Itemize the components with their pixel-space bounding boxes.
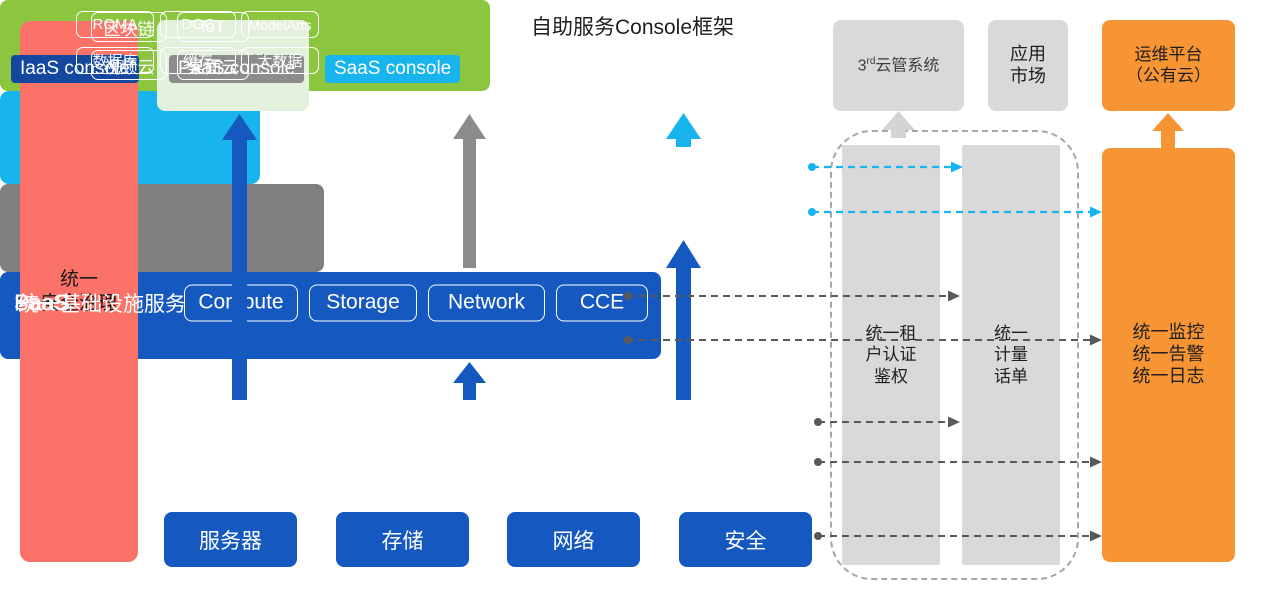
unified-metering-billing-column[interactable]: 统一 计量 话单: [962, 145, 1060, 565]
unified-tenant-authentication-column[interactable]: 统一租 户认证 鉴权: [842, 145, 940, 565]
paas-chip-roma[interactable]: ROMA: [76, 11, 154, 38]
arrow-paas-to-paas-console: [453, 114, 486, 268]
infra-chip-compute[interactable]: Compute: [184, 284, 298, 321]
arrow-into-ops-platform: [1152, 113, 1184, 148]
arrow-infra-to-paas: [453, 362, 486, 400]
paas-chip-dgc[interactable]: DGC: [160, 11, 236, 38]
infra-chip-cce[interactable]: CCE: [556, 284, 648, 321]
infra-chip-storage[interactable]: Storage: [309, 284, 417, 321]
arrow-infra-to-saas: [666, 240, 701, 400]
resource-tile-network[interactable]: 网络: [507, 512, 640, 567]
paas-chip-database[interactable]: 数据库: [76, 47, 154, 74]
application-marketplace-box[interactable]: 应用 市场: [988, 20, 1068, 111]
resource-tile-server[interactable]: 服务器: [164, 512, 297, 567]
paas-chip-modelarts[interactable]: ModelArts: [241, 11, 319, 38]
paas-chip-bigdata[interactable]: 大数据: [241, 47, 319, 74]
infra-chip-network[interactable]: Network: [428, 284, 545, 321]
unified-monitoring-alarm-log-panel[interactable]: 统一监控 统一告警 统一日志: [1102, 148, 1235, 562]
resource-tile-storage[interactable]: 存储: [336, 512, 469, 567]
paas-chip-cache[interactable]: 缓存: [160, 47, 236, 74]
architecture-diagram: 统一 安全治理 API网关 自助服务Console框架 IaaS console…: [0, 0, 1265, 605]
resource-tile-security[interactable]: 安全: [679, 512, 812, 567]
infrastructure-service-label: 统一基础设施服务: [18, 288, 186, 318]
third-party-cloud-management-system[interactable]: 3rd云管系统: [833, 20, 964, 111]
third-party-label: 云管系统: [875, 57, 939, 74]
saas-console-chip[interactable]: SaaS console: [325, 55, 460, 83]
ops-platform-public-cloud-box[interactable]: 运维平台 （公有云）: [1102, 20, 1235, 111]
arrow-saas-to-saas-console: [666, 113, 701, 147]
